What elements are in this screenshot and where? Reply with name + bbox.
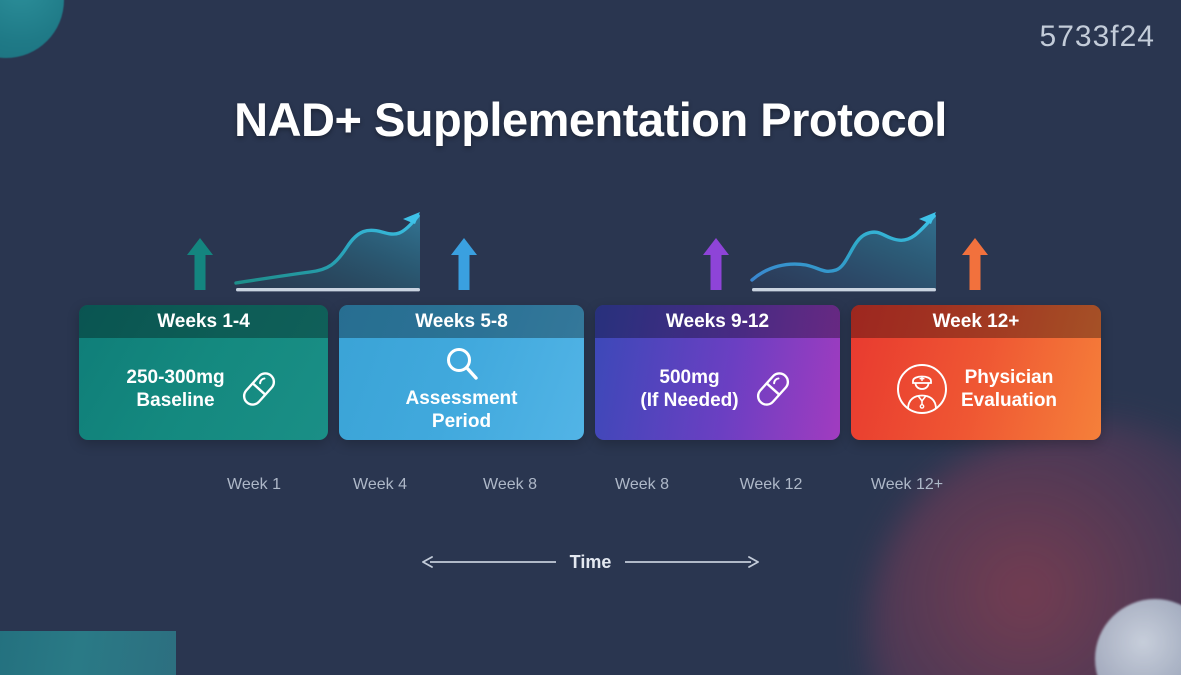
decorative-band-bottom-left [0,631,176,675]
growth-sparkline-left [232,202,438,298]
decorative-blob-top-left [0,0,64,58]
page-title: NAD+ Supplementation Protocol [0,92,1181,147]
up-arrow-teal-icon [185,236,215,292]
phase-card-body: 500mg (If Needed) [595,338,840,440]
phase-card-weeks-1-4[interactable]: Weeks 1-4 250-300mg Baseline [79,305,328,440]
phase-card-header: Weeks 1-4 [79,305,328,338]
up-arrow-blue-icon [449,236,479,292]
phase-card-text: Assessment Period [406,387,518,433]
arrow-right-icon [625,553,759,571]
arrow-left-icon [422,553,556,571]
phase-card-body: 250-300mg Baseline [79,338,328,440]
up-arrow-purple-icon [701,236,731,292]
phase-card-body: Assessment Period [339,338,584,440]
phase-card-week-12-plus[interactable]: Week 12+ Physician Evaluation [851,305,1101,440]
phase-card-text: 500mg (If Needed) [640,366,738,412]
week-tick-labels: Week 1 Week 4 Week 8 Week 8 Week 12 Week… [0,476,1181,500]
week-tick-label: Week 4 [353,476,407,494]
graphics-band [0,196,1181,298]
growth-sparkline-right [748,202,954,298]
slide-id-label: 5733f24 [1040,20,1155,54]
magnifier-icon [443,345,481,383]
phase-card-weeks-5-8[interactable]: Weeks 5-8 Assessment Period [339,305,584,440]
week-tick-label: Week 12 [740,476,803,494]
slide-canvas: 5733f24 NAD+ Supplementation Protocol [0,0,1181,675]
time-axis: Time [0,545,1181,579]
protocol-phase-cards: Weeks 1-4 250-300mg Baseline Weeks 5-8 [0,305,1181,440]
phase-card-weeks-9-12[interactable]: Weeks 9-12 500mg (If Needed) [595,305,840,440]
up-arrow-orange-icon [960,236,990,292]
pill-capsule-icon [237,367,281,411]
week-tick-label: Week 8 [615,476,669,494]
phase-card-header: Weeks 5-8 [339,305,584,338]
week-tick-label: Week 12+ [871,476,943,494]
physician-avatar-icon [895,362,949,416]
phase-card-text: Physician Evaluation [961,366,1057,412]
week-tick-label: Week 1 [227,476,281,494]
phase-card-header: Week 12+ [851,305,1101,338]
pill-capsule-icon [751,367,795,411]
phase-card-text: 250-300mg Baseline [126,366,224,412]
week-tick-label: Week 8 [483,476,537,494]
phase-card-header: Weeks 9-12 [595,305,840,338]
time-axis-label: Time [570,552,612,573]
phase-card-body: Physician Evaluation [851,338,1101,440]
